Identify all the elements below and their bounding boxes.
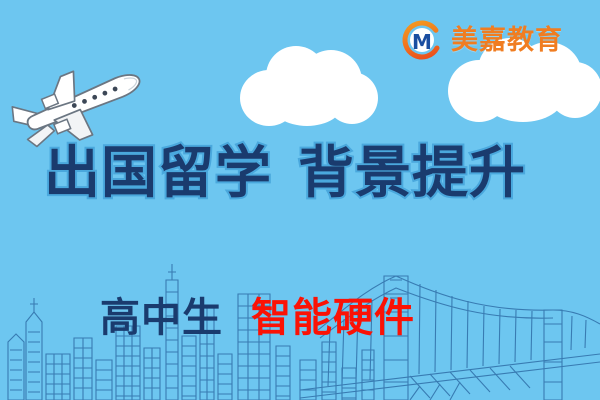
cloud-icon-left: [240, 44, 380, 124]
brand-logo[interactable]: M 美嘉教育: [400, 18, 563, 62]
circular-ring-logo-icon: M: [400, 18, 444, 62]
subline-part-1: 高中生: [100, 298, 223, 338]
headline-part-1: 出国留学: [44, 146, 272, 202]
brand-logo-text: 美嘉教育: [451, 27, 563, 54]
poster-banner: M 美嘉教育 出国留学 背景提升 留学专家 亲自指导 高中生 智能硬件: [0, 0, 600, 400]
headline: 出国留学 背景提升: [44, 140, 564, 208]
ribbon-banner: 留学专家 亲自指导: [0, 222, 600, 306]
headline-part-2: 背景提升: [298, 146, 526, 202]
subline-part-2: 智能硬件: [251, 298, 415, 338]
subline: 高中生 智能硬件: [100, 298, 415, 338]
svg-text:M: M: [412, 30, 432, 54]
